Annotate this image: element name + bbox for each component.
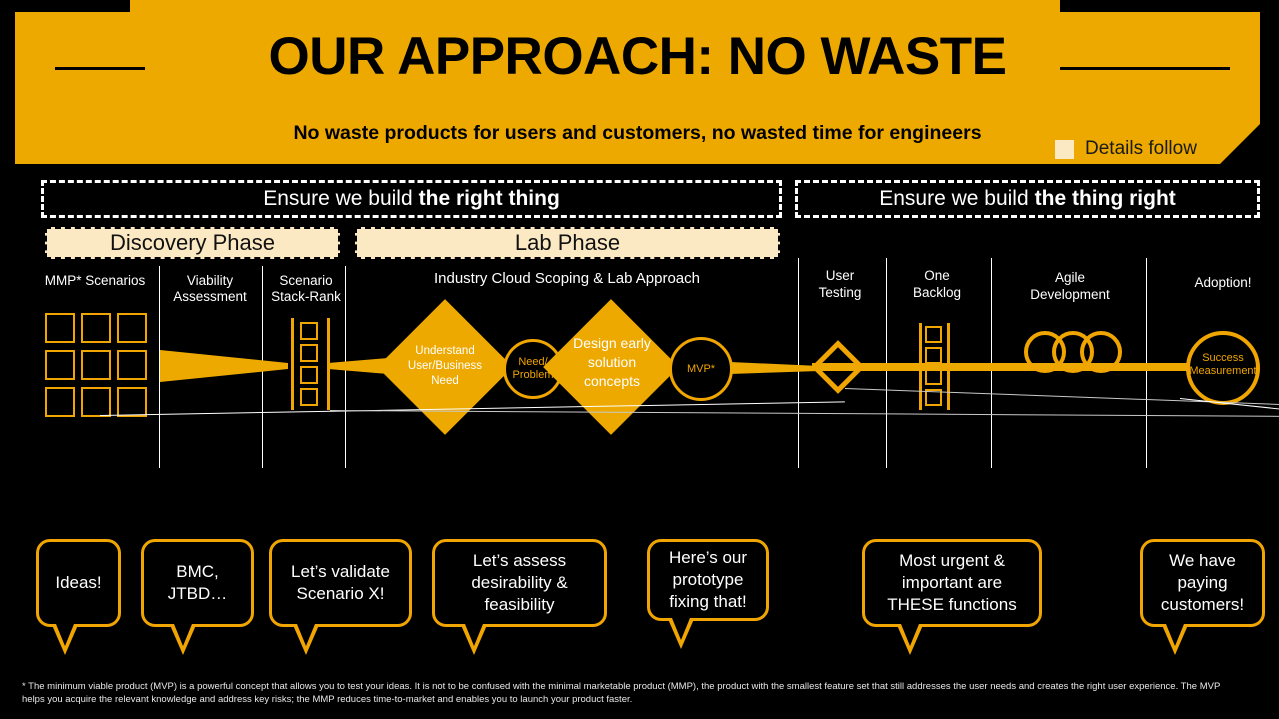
column-label-user-testing-2: Testing (800, 284, 880, 301)
understand-line-1: Understand (400, 344, 490, 359)
ensure-right-strong: the thing right (1035, 187, 1176, 211)
column-label-viability-1: Viability (165, 272, 255, 289)
backlog-item (925, 347, 942, 364)
success-line-1: Success (1188, 352, 1258, 365)
speech-bubble-tail (461, 625, 487, 655)
phase-discovery: Discovery Phase (45, 227, 340, 259)
bubble-line: prototype (669, 569, 747, 591)
scenario-tile (81, 387, 111, 417)
speech-bubble-tail (668, 619, 694, 649)
bubble-line: desirability & (471, 572, 567, 594)
funnel-wedge-viability (160, 350, 288, 382)
page-title: OUR APPROACH: NO WASTE (15, 26, 1260, 88)
diamond-understand-label: Understand User/Business Need (400, 344, 490, 389)
scenario-tile (45, 350, 75, 380)
column-label-agile-2: Development (1000, 286, 1140, 303)
bubble-line: Ideas! (55, 572, 101, 594)
details-swatch-icon (1055, 140, 1074, 159)
column-label-mmp: MMP* Scenarios (20, 272, 170, 289)
ensure-thing-right-header: Ensure we build the thing right (795, 180, 1260, 218)
backlog-rail-left (919, 323, 922, 410)
bubble-line: JTBD… (168, 583, 228, 605)
column-label-stackrank-1: Scenario (265, 272, 347, 289)
diamond-user-testing (811, 340, 865, 394)
scenario-tile (81, 350, 111, 380)
speech-bubble[interactable]: BMC, JTBD… (141, 539, 254, 627)
mvp-label: MVP* (687, 363, 715, 376)
design-line-1: Design early (565, 334, 659, 353)
understand-line-2: User/Business (400, 359, 490, 374)
scenario-tile (117, 350, 147, 380)
column-label-adoption: Adoption! (1160, 274, 1279, 291)
speech-bubble[interactable]: Let’s assess desirability & feasibility (432, 539, 607, 627)
phase-lab: Lab Phase (355, 227, 780, 259)
scenario-tile (117, 387, 147, 417)
column-label-user-testing-1: User (800, 267, 880, 284)
circle-mvp: MVP* (669, 337, 733, 401)
backlog-rail-right (947, 323, 950, 410)
scenario-tile (117, 313, 147, 343)
success-measurement-label: Success Measurement (1188, 352, 1258, 378)
bubble-line: Let’s assess (471, 550, 567, 572)
ensure-right-thing-header: Ensure we build the right thing (41, 180, 782, 218)
bubble-line: Scenario X! (291, 583, 390, 605)
ensure-left-strong: the right thing (419, 187, 560, 211)
backlog-item (925, 326, 942, 343)
bubble-line: feasibility (471, 594, 567, 616)
success-line-2: Measurement (1188, 365, 1258, 378)
bubble-line: important are (887, 572, 1016, 594)
bubble-line: Most urgent & (887, 550, 1016, 572)
backlog-item (925, 368, 942, 385)
speech-bubble[interactable]: Here’s our prototype fixing that! (647, 539, 769, 621)
sprint-circle (1080, 331, 1122, 373)
speech-bubble-tail (170, 625, 196, 655)
bubble-line: THESE functions (887, 594, 1016, 616)
bubble-line: We have (1161, 550, 1244, 572)
speech-bubble[interactable]: Most urgent & important are THESE functi… (862, 539, 1042, 627)
footnote-text: * The minimum viable product (MVP) is a … (22, 680, 1242, 706)
funnel-wedge-to-user-testing (730, 360, 820, 376)
bubble-line: fixing that! (669, 591, 747, 613)
scenario-tile (45, 387, 75, 417)
scenario-tile (81, 313, 111, 343)
stackrank-item (300, 344, 318, 362)
speech-bubble-tail (897, 625, 923, 655)
bubble-line: Here’s our (669, 547, 747, 569)
bubble-line: customers! (1161, 594, 1244, 616)
stackrank-item (300, 366, 318, 384)
understand-line-3: Need (400, 374, 490, 389)
bubble-line: BMC, (168, 561, 228, 583)
column-label-backlog-1: One (897, 267, 977, 284)
ensure-left-prefix: Ensure we build (263, 187, 412, 211)
details-follow-note: Details follow (1055, 138, 1197, 160)
feedback-line-mid (330, 410, 1279, 417)
diamond-design-label: Design early solution concepts (565, 334, 659, 391)
scenario-tile (45, 313, 75, 343)
speech-bubble[interactable]: Let’s validate Scenario X! (269, 539, 412, 627)
bubble-line: paying (1161, 572, 1244, 594)
divider-1 (159, 266, 160, 468)
speech-bubble[interactable]: We have paying customers! (1140, 539, 1265, 627)
speech-bubble[interactable]: Ideas! (36, 539, 121, 627)
slide-canvas: OUR APPROACH: NO WASTE No waste products… (0, 0, 1279, 719)
column-label-stackrank-2: Stack-Rank (265, 288, 347, 305)
speech-bubble-tail (1162, 625, 1188, 655)
stackrank-item (300, 322, 318, 340)
column-label-viability-2: Assessment (165, 288, 255, 305)
banner-notch (130, 0, 1060, 13)
stackrank-item (300, 388, 318, 406)
column-label-backlog-2: Backlog (897, 284, 977, 301)
design-line-2: solution (565, 353, 659, 372)
design-line-3: concepts (565, 372, 659, 391)
stackrank-rail-left (291, 318, 294, 410)
ensure-right-prefix: Ensure we build (879, 187, 1028, 211)
column-label-agile-1: Agile (1000, 269, 1140, 286)
delivery-rail (812, 363, 1202, 371)
speech-bubble-tail (293, 625, 319, 655)
bubble-line: Let’s validate (291, 561, 390, 583)
column-label-industry-cloud: Industry Cloud Scoping & Lab Approach (352, 270, 782, 287)
details-follow-label: Details follow (1085, 138, 1197, 160)
speech-bubble-tail (52, 625, 78, 655)
divider-4 (798, 258, 799, 468)
